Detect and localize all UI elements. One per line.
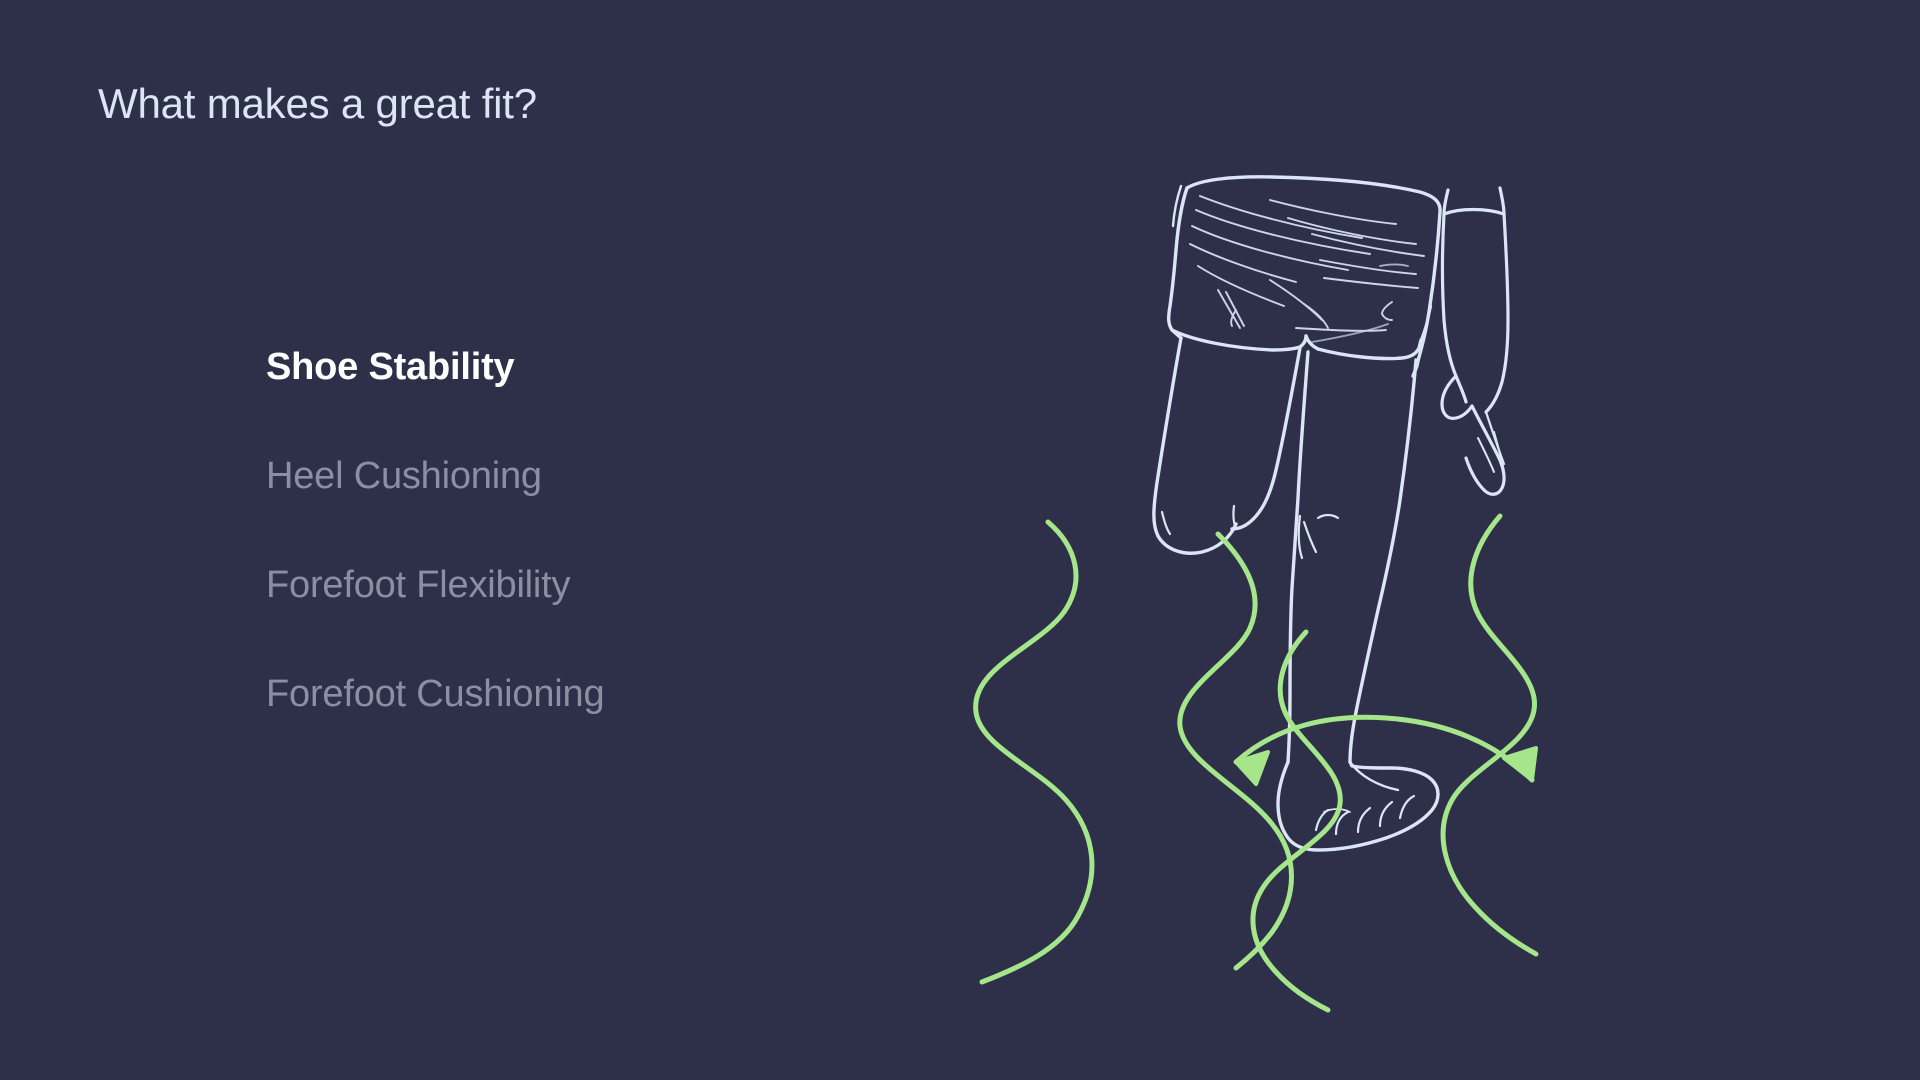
shorts-crease-lines (1190, 196, 1424, 342)
motion-squiggle-left-outer (976, 522, 1092, 982)
running-shorts (1169, 177, 1440, 376)
arm-and-hand (1442, 188, 1508, 494)
attribute-item-forefoot-cushioning[interactable]: Forefoot Cushioning (266, 675, 866, 713)
stability-arc (1236, 717, 1532, 780)
left-column: What makes a great fit? Shoe Stability H… (0, 0, 900, 1080)
lateral-stability-arrow (1236, 717, 1536, 784)
attribute-item-forefoot-flexibility[interactable]: Forefoot Flexibility (266, 566, 866, 604)
motion-squiggle-right-inner (1253, 632, 1340, 1010)
page-title: What makes a great fit? (98, 80, 537, 128)
foot (1278, 762, 1438, 850)
slide-canvas: What makes a great fit? Shoe Stability H… (0, 0, 1920, 1080)
runner-illustration (900, 140, 1620, 860)
arrow-head-right (1504, 748, 1536, 780)
attribute-item-shoe-stability[interactable]: Shoe Stability (266, 348, 866, 386)
runner-sketch-svg (900, 140, 1620, 860)
attribute-list: Shoe Stability Heel Cushioning Forefoot … (266, 348, 866, 713)
planted-leg (1288, 352, 1416, 762)
motion-squiggle-left-inner (1180, 534, 1292, 968)
lifted-leg (1154, 338, 1300, 553)
attribute-item-heel-cushioning[interactable]: Heel Cushioning (266, 457, 866, 495)
